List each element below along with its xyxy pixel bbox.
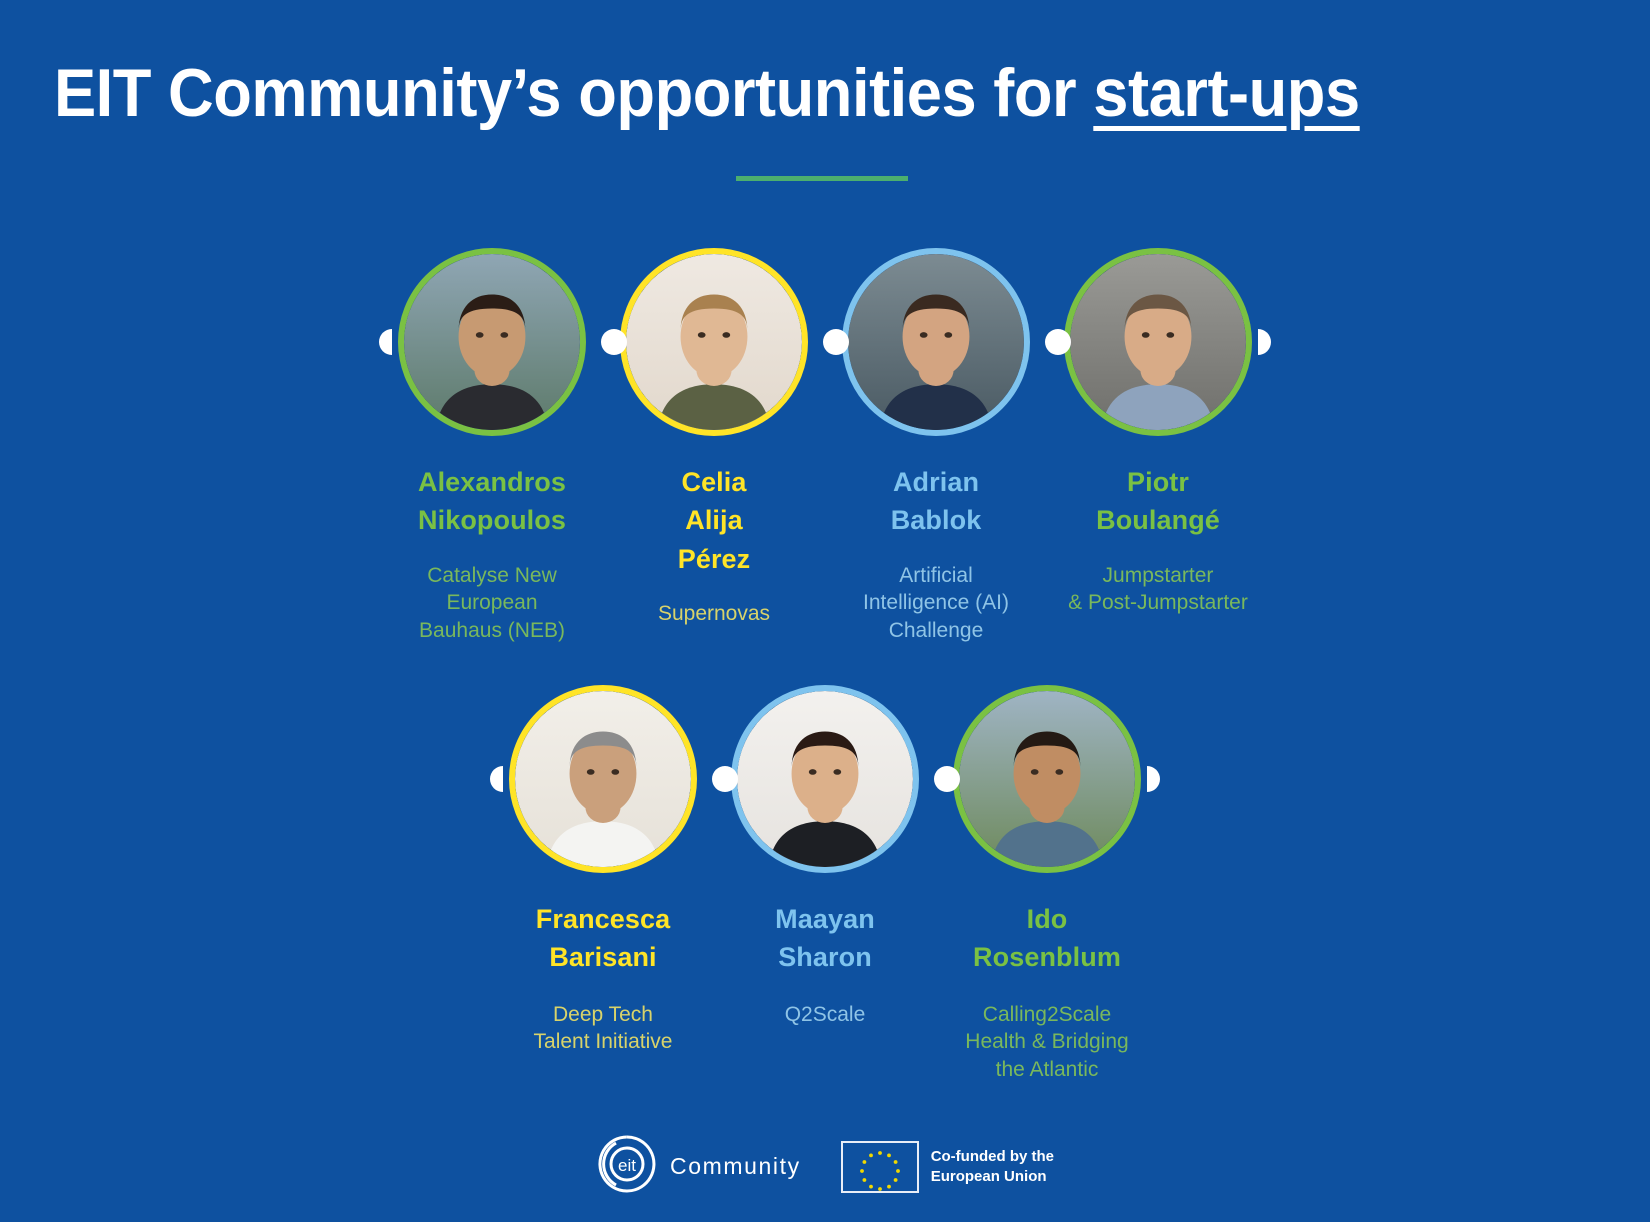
person-programme-line: Artificial: [863, 562, 1009, 590]
person-card[interactable]: PiotrBoulangéJumpstarter& Post-Jumpstart…: [1047, 245, 1269, 617]
avatar[interactable]: [1064, 248, 1252, 436]
person-card[interactable]: CeliaAlijaPérezSupernovas: [603, 245, 825, 628]
connector-dot-icon: [1147, 766, 1160, 792]
portrait-bearded-man-outdoors: [404, 254, 580, 430]
person-programme-line: the Atlantic: [965, 1056, 1128, 1084]
person-programme-line: Deep Tech: [534, 1001, 673, 1029]
eit-roundel-icon: eit: [596, 1133, 658, 1200]
connector-dot-icon: [379, 329, 392, 355]
person-card[interactable]: IdoRosenblumCalling2ScaleHealth & Bridgi…: [936, 682, 1158, 1084]
person-name-line: Francesca: [536, 900, 671, 938]
avatar-slot: [503, 682, 703, 876]
eit-community-wordmark: Community: [670, 1153, 801, 1180]
portrait-woman-long-hair: [626, 254, 802, 430]
person-name: PiotrBoulangé: [1096, 463, 1220, 540]
eu-cofunding-text: Co-funded by the European Union: [931, 1147, 1054, 1186]
person-name: CeliaAlijaPérez: [678, 463, 751, 578]
avatar-slot: [614, 245, 814, 439]
avatar-slot: [1058, 245, 1258, 439]
connector-dot-icon: [712, 766, 738, 792]
person-card[interactable]: FrancescaBarisaniDeep TechTalent Initiat…: [492, 682, 714, 1056]
person-programme-line: Challenge: [863, 617, 1009, 645]
person-name-line: Ido: [973, 900, 1121, 938]
person-name: FrancescaBarisani: [536, 900, 671, 977]
person-name-line: Celia: [678, 463, 751, 501]
avatar-slot: [947, 682, 1147, 876]
person-programme: Catalyse NewEuropeanBauhaus (NEB): [419, 562, 565, 645]
connector-dot-icon: [490, 766, 503, 792]
footer: eit Community Co-funded by the European …: [0, 1133, 1650, 1200]
avatar-slot: [725, 682, 925, 876]
people-row-2: FrancescaBarisaniDeep TechTalent Initiat…: [0, 682, 1650, 1084]
eu-cofunding-badge: Co-funded by the European Union: [841, 1141, 1054, 1193]
connector-dot-icon: [823, 329, 849, 355]
person-name: MaayanSharon: [775, 900, 875, 977]
avatar[interactable]: [509, 685, 697, 873]
title-accent-bar: [736, 176, 908, 181]
person-programme-line: European: [419, 589, 565, 617]
person-programme-line: Intelligence (AI): [863, 589, 1009, 617]
connector-dot-icon: [1045, 329, 1071, 355]
avatar-slot: [836, 245, 1036, 439]
connector-dot-icon: [601, 329, 627, 355]
person-programme-line: Supernovas: [658, 600, 770, 628]
person-name-line: Barisani: [536, 938, 671, 976]
person-programme-line: Health & Bridging: [965, 1028, 1128, 1056]
person-name-line: Pérez: [678, 540, 751, 578]
connector-dot-icon: [934, 766, 960, 792]
person-name-line: Adrian: [891, 463, 982, 501]
avatar[interactable]: [953, 685, 1141, 873]
person-programme-line: Calling2Scale: [965, 1001, 1128, 1029]
person-name-line: Bablok: [891, 501, 982, 539]
avatar-slot: [392, 245, 592, 439]
avatar[interactable]: [620, 248, 808, 436]
eu-cofunding-line-1: Co-funded by the: [931, 1147, 1054, 1167]
page-title-block: EIT Community’s opportunities for start-…: [0, 58, 1650, 129]
connector-dot-icon: [1258, 329, 1271, 355]
person-programme: ArtificialIntelligence (AI)Challenge: [863, 562, 1009, 645]
person-programme: Calling2ScaleHealth & Bridgingthe Atlant…: [965, 1001, 1128, 1084]
portrait-man-outdoors-denim: [959, 691, 1135, 867]
person-card[interactable]: MaayanSharonQ2Scale: [714, 682, 936, 1028]
person-name-line: Boulangé: [1096, 501, 1220, 539]
person-name-line: Alexandros: [418, 463, 566, 501]
eu-flag-icon: [841, 1141, 919, 1193]
person-name-line: Maayan: [775, 900, 875, 938]
avatar[interactable]: [398, 248, 586, 436]
person-programme-line: Bauhaus (NEB): [419, 617, 565, 645]
person-name: AdrianBablok: [891, 463, 982, 540]
person-programme: Jumpstarter& Post-Jumpstarter: [1068, 562, 1248, 617]
person-programme-line: Jumpstarter: [1068, 562, 1248, 590]
eit-community-logo: eit Community: [596, 1133, 801, 1200]
avatar[interactable]: [842, 248, 1030, 436]
person-card[interactable]: AlexandrosNikopoulosCatalyse NewEuropean…: [381, 245, 603, 645]
person-programme-line: & Post-Jumpstarter: [1068, 589, 1248, 617]
person-programme-line: Catalyse New: [419, 562, 565, 590]
person-name: AlexandrosNikopoulos: [418, 463, 566, 540]
people-row-1: AlexandrosNikopoulosCatalyse NewEuropean…: [0, 245, 1650, 645]
person-card[interactable]: AdrianBablokArtificialIntelligence (AI)C…: [825, 245, 1047, 645]
person-name-line: Sharon: [775, 938, 875, 976]
person-programme: Supernovas: [658, 600, 770, 628]
person-name-line: Nikopoulos: [418, 501, 566, 539]
page-title: EIT Community’s opportunities for start-…: [0, 58, 1535, 129]
page-title-prefix: EIT Community’s opportunities for: [54, 55, 1093, 131]
person-programme-line: Talent Initiative: [534, 1028, 673, 1056]
person-programme: Deep TechTalent Initiative: [534, 1001, 673, 1056]
person-name: IdoRosenblum: [973, 900, 1121, 977]
person-name-line: Rosenblum: [973, 938, 1121, 976]
page-title-emphasis: start-ups: [1093, 55, 1359, 131]
eu-cofunding-line-2: European Union: [931, 1167, 1054, 1187]
avatar[interactable]: [731, 685, 919, 873]
person-programme-line: Q2Scale: [785, 1001, 866, 1029]
person-name-line: Alija: [678, 501, 751, 539]
portrait-woman-dark-hair-blazer: [737, 691, 913, 867]
person-name-line: Piotr: [1096, 463, 1220, 501]
person-programme: Q2Scale: [785, 1001, 866, 1029]
portrait-man-blue-shirt: [1070, 254, 1246, 430]
portrait-smiling-woman-glasses: [515, 691, 691, 867]
svg-text:eit: eit: [618, 1156, 636, 1175]
portrait-man-glasses-suit: [848, 254, 1024, 430]
